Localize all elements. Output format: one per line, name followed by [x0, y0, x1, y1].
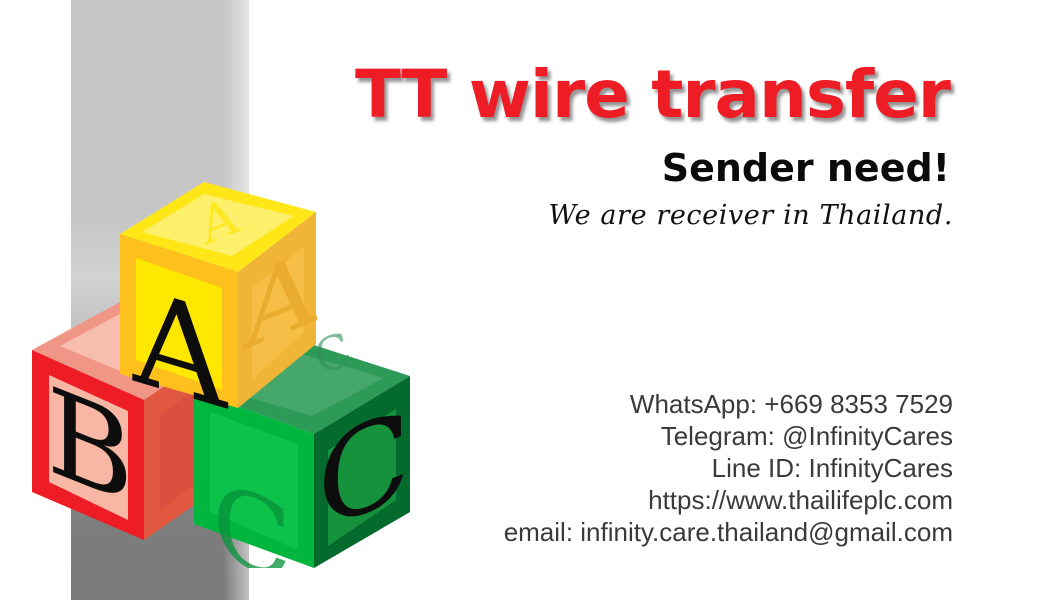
contact-line-whatsapp: WhatsApp: +669 8353 7529: [420, 388, 953, 420]
poster-canvas: B B C C: [0, 0, 1063, 600]
contact-details: WhatsApp: +669 8353 7529 Telegram: @Infi…: [420, 388, 953, 548]
page-title: TT wire transfer: [267, 62, 950, 128]
contact-line-line-id: Line ID: InfinityCares: [420, 452, 953, 484]
contact-line-email[interactable]: email: infinity.care.thailand@gmail.com: [420, 516, 953, 548]
contact-line-telegram: Telegram: @InfinityCares: [420, 420, 953, 452]
abc-blocks-illustration: B B C C: [18, 168, 438, 568]
svg-text:A: A: [132, 261, 229, 441]
subtitle: Sender need!: [430, 148, 950, 190]
contact-line-website[interactable]: https://www.thailifeplc.com: [420, 484, 953, 516]
tagline: We are receiver in Thailand.: [430, 200, 953, 232]
